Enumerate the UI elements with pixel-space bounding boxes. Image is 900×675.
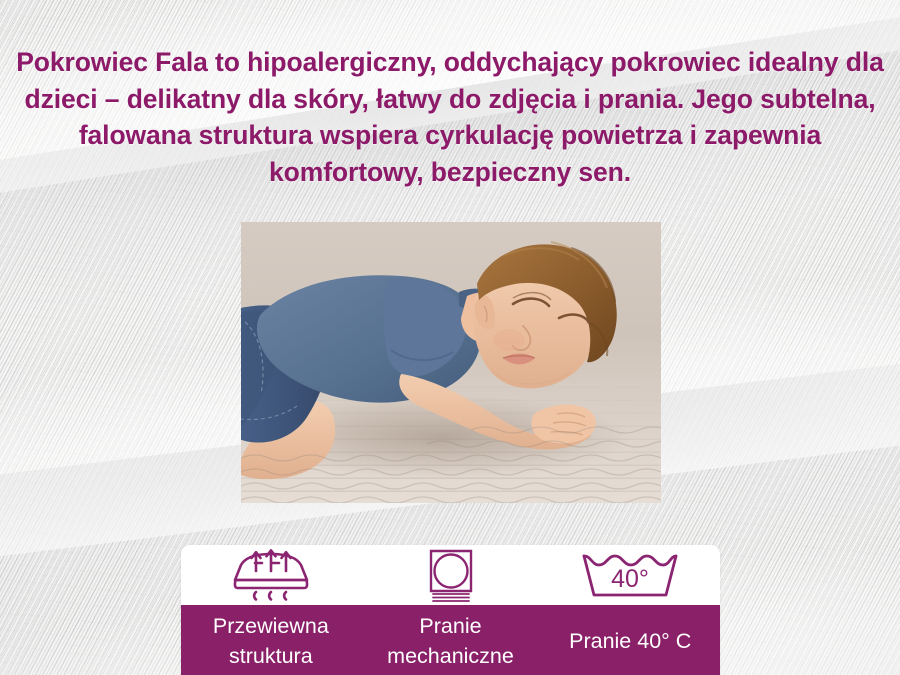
feature-icon-row: 40° (181, 545, 720, 605)
feature-label-0-line-2: struktura (229, 644, 313, 668)
feature-label-0-line-1: Przewiewna (213, 614, 329, 638)
feature-icon-cell-1 (361, 545, 541, 605)
breathable-structure-icon (225, 549, 317, 601)
machine-wash-icon (423, 548, 479, 602)
feature-label-row: Przewiewnastruktura Praniemechaniczne Pr… (181, 605, 720, 675)
feature-label-1: Praniemechaniczne (361, 605, 541, 675)
feature-panel: 40° Przewiewnastruktura Praniemechaniczn… (181, 545, 720, 675)
feature-icon-cell-0 (181, 545, 361, 605)
product-photo (241, 222, 661, 503)
feature-label-2-line-1: Pranie 40° C (569, 626, 691, 656)
wash-temperature-label: 40° (611, 565, 649, 593)
headline-text: Pokrowiec Fala to hipoalergiczny, oddych… (0, 44, 900, 190)
feature-label-0: Przewiewnastruktura (181, 605, 361, 675)
photo-child-illustration (241, 222, 661, 503)
promo-banner: Pokrowiec Fala to hipoalergiczny, oddych… (0, 0, 900, 675)
feature-label-1-line-1: Pranie (419, 614, 481, 638)
wash-40-degrees-icon: 40° (578, 550, 682, 600)
feature-label-1-line-2: mechaniczne (387, 644, 514, 668)
feature-icon-cell-2: 40° (540, 545, 720, 605)
feature-label-2: Pranie 40° C (540, 605, 720, 675)
